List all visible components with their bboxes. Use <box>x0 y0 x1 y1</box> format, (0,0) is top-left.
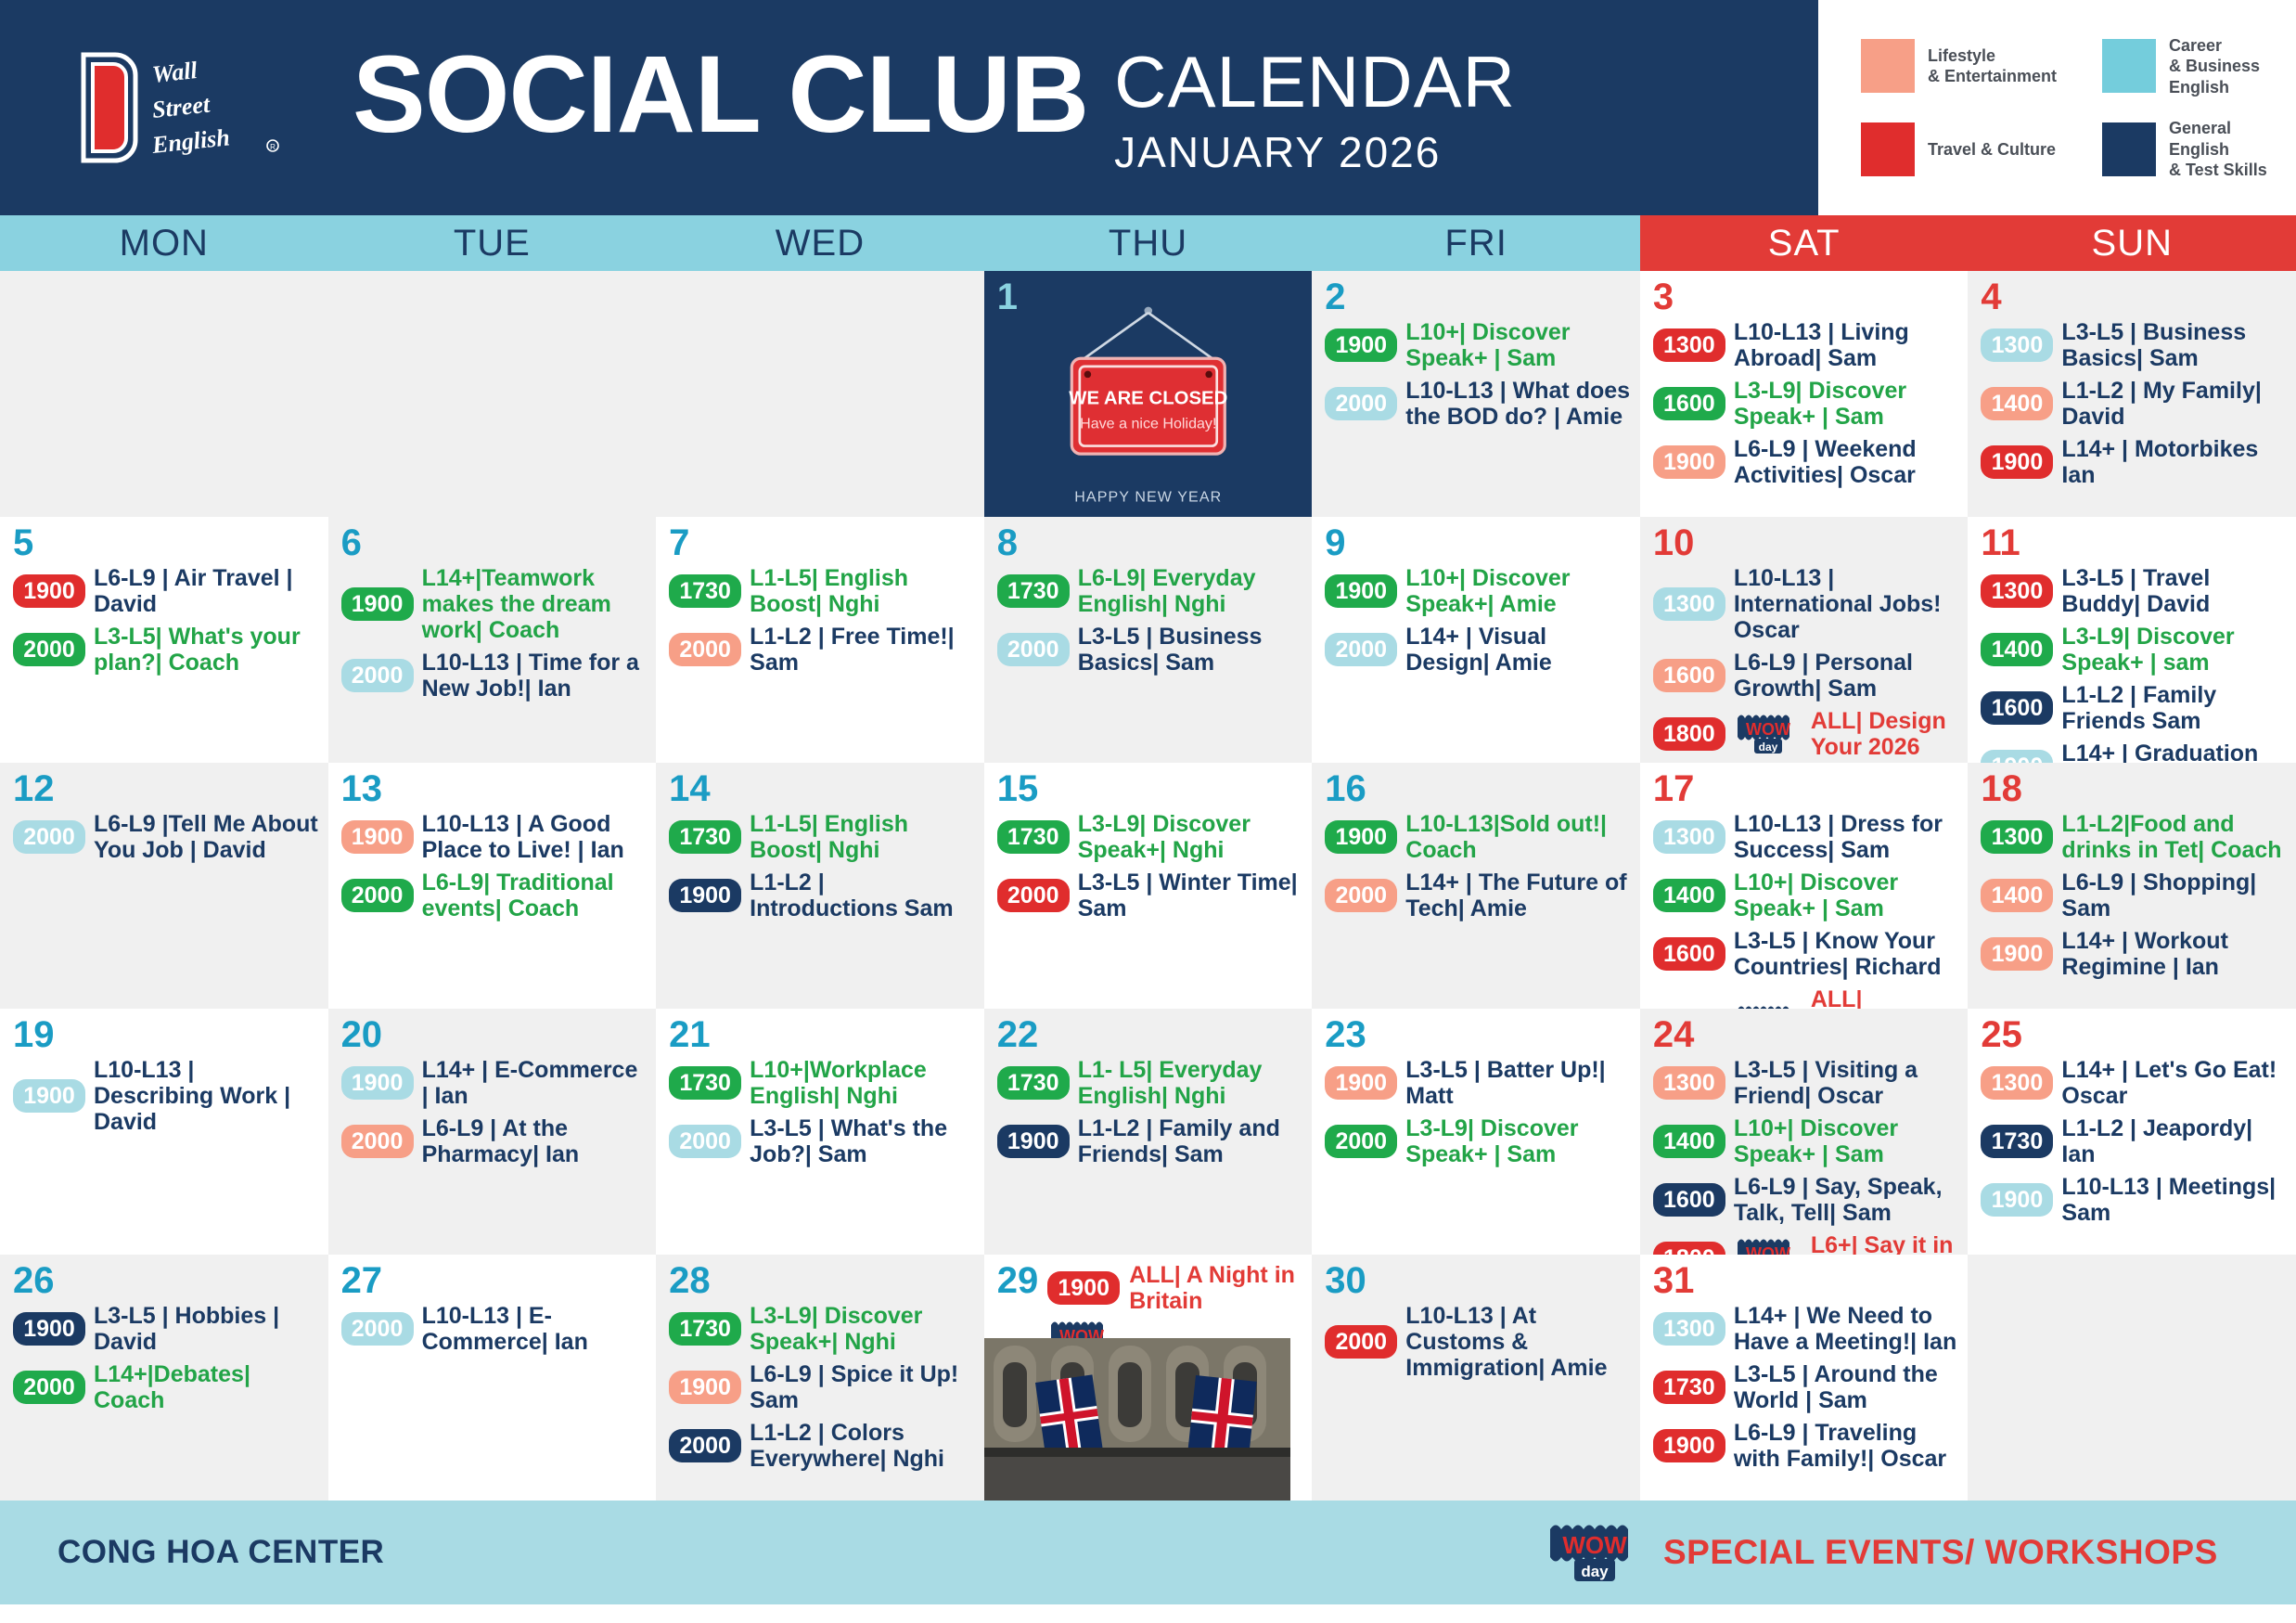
event-item[interactable]: 1300L10-L13 | International Jobs! Oscar <box>1653 565 1959 643</box>
day-number: 29 <box>997 1262 1039 1299</box>
calendar-grid: WE ARE CLOSED Have a nice Holiday! HAPPY… <box>0 271 2296 1501</box>
event-title: L6-L9| Everyday English| Nghi <box>1078 565 1303 617</box>
event-time-badge: 1900 <box>1653 1429 1725 1462</box>
event-item[interactable]: 2000L6-L9| Traditional events| Coach <box>341 869 648 921</box>
event-item[interactable]: 2000L3-L5 | What's the Job?| Sam <box>669 1115 975 1167</box>
event-time-badge: 2000 <box>997 879 1070 912</box>
day-cell-16[interactable]: 161900L10-L13|Sold out!| Coach2000L14+ |… <box>1312 763 1640 1009</box>
day-cell-empty <box>0 271 328 517</box>
day-cell-26[interactable]: 261900L3-L5 | Hobbies | David2000L14+|De… <box>0 1255 328 1501</box>
event-title: L6+| Say it in Slang <box>1811 1232 1959 1255</box>
day-cell-20[interactable]: 201900L14+ | E-Commerce | Ian2000L6-L9 |… <box>328 1009 657 1255</box>
event-time-badge: 1300 <box>1981 820 2053 854</box>
day-cell-empty <box>328 271 657 517</box>
event-title: L3-L9| Discover Speak+| Nghi <box>1078 811 1303 863</box>
svg-text:Wall: Wall <box>151 57 199 88</box>
day-number: 18 <box>1981 770 2287 807</box>
event-time-badge: 1800 <box>1653 717 1725 751</box>
day-cell-10[interactable]: 101300L10-L13 | International Jobs! Osca… <box>1640 517 1969 763</box>
event-list: 1900L6-L9 | Air Travel | David2000L3-L5|… <box>13 565 319 676</box>
event-item[interactable]: 2000L10-L13 | E-Commerce| Ian <box>341 1303 648 1355</box>
svg-text:WE ARE CLOSED: WE ARE CLOSED <box>1069 389 1227 409</box>
event-list: 1900L14+ | E-Commerce | Ian2000L6-L9 | A… <box>341 1057 648 1167</box>
day-number: 7 <box>669 524 975 561</box>
event-item[interactable]: 1900L1-L2 | Family and Friends| Sam <box>997 1115 1303 1167</box>
day-cell-17[interactable]: 171300L10-L13 | Dress for Success| Sam14… <box>1640 763 1969 1009</box>
day-number: 28 <box>669 1262 975 1299</box>
event-title: L14+ | The Future of Tech| Amie <box>1405 869 1631 921</box>
event-item[interactable]: 2000L1-L2 | Colors Everywhere| Nghi <box>669 1420 975 1472</box>
legend-item-career: Career & Business English <box>2102 35 2296 98</box>
event-title: L3-L5 | Business Basics| Sam <box>2061 319 2287 371</box>
day-cell-28[interactable]: 281730L3-L9| Discover Speak+| Nghi1900L6… <box>656 1255 984 1501</box>
event-item[interactable]: 2000L6-L9 |Tell Me About You Job | David <box>13 811 319 863</box>
day-number: 2 <box>1325 278 1631 316</box>
svg-text:Street: Street <box>151 91 212 123</box>
month-label: JANUARY 2026 <box>1114 129 1516 176</box>
event-time-badge: 1600 <box>1981 691 2053 725</box>
event-item[interactable]: 1900L10-L13 | A Good Place to Live! | Ia… <box>341 811 648 863</box>
legend-label-career: Career & Business English <box>2169 35 2296 98</box>
event-time-badge: 1730 <box>669 820 741 854</box>
event-title: L1-L2 | Family and Friends| Sam <box>1078 1115 1303 1167</box>
day-cell-25[interactable]: 251300L14+ | Let's Go Eat! Oscar1730L1-L… <box>1968 1009 2296 1255</box>
event-item[interactable]: 1400L6-L9 | Shopping| Sam <box>1981 869 2287 921</box>
legend-swatch-lifestyle <box>1861 39 1915 93</box>
day-cell-1[interactable]: WE ARE CLOSED Have a nice Holiday! HAPPY… <box>984 271 1313 517</box>
event-item[interactable]: 1400L10+| Discover Speak+ | Sam <box>1653 869 1959 921</box>
event-title: L14+ | Let's Go Eat! Oscar <box>2061 1057 2287 1109</box>
event-list: 1730L1- L5| Everyday English| Nghi1900L1… <box>997 1057 1303 1167</box>
event-item[interactable]: 1900L6-L9 | Traveling with Family!| Osca… <box>1653 1420 1959 1472</box>
event-list: 1900L10-L13 | Describing Work | David <box>13 1057 319 1135</box>
day-number: 24 <box>1653 1016 1959 1053</box>
day-number: 11 <box>1981 524 2287 561</box>
day-cell-14[interactable]: 141730L1-L5| English Boost| Nghi1900L1-L… <box>656 763 984 1009</box>
event-item[interactable]: 2000L3-L5| What's your plan?| Coach <box>13 624 319 676</box>
event-list: 1300L10-L13 | International Jobs! Oscar1… <box>1653 565 1959 760</box>
svg-text:WOW: WOW <box>1746 1244 1790 1255</box>
page-footer: CONG HOA CENTER WOW day SPECIAL EVENTS/ … <box>0 1501 2296 1604</box>
event-time-badge: 2000 <box>669 633 741 666</box>
day-number: 16 <box>1325 770 1631 807</box>
legend-item-general-english: General English & Test Skills <box>2102 118 2296 181</box>
event-title: L6-L9 | Shopping| Sam <box>2061 869 2287 921</box>
event-list: 1900L10+| Discover Speak+| Amie2000L14+ … <box>1325 565 1631 676</box>
svg-text:HAPPY NEW YEAR: HAPPY NEW YEAR <box>1074 489 1222 506</box>
event-item[interactable]: 1600L3-L5 | Know Your Countries| Richard <box>1653 928 1959 980</box>
event-item[interactable]: 1730L10+|Workplace English| Nghi <box>669 1057 975 1109</box>
event-title: L14+ | Visual Design| Amie <box>1405 624 1631 676</box>
event-item[interactable]: 1730L3-L5 | Around the World | Sam <box>1653 1361 1959 1413</box>
day-cell-9[interactable]: 91900L10+| Discover Speak+| Amie2000L14+… <box>1312 517 1640 763</box>
event-item[interactable]: 1800 WOW day ALL| Design Your 2026 <box>1653 708 1959 760</box>
day-number: 5 <box>13 524 319 561</box>
event-time-badge: 1900 <box>13 574 85 608</box>
event-item[interactable]: 1730L1-L5| English Boost| Nghi <box>669 811 975 863</box>
event-time-badge: 1600 <box>1653 937 1725 971</box>
weekday-header-wed: WED <box>656 215 984 271</box>
event-time-badge: 1730 <box>669 1312 741 1346</box>
event-title: L1-L2 | My Family| David <box>2061 378 2287 430</box>
day-number: 27 <box>341 1262 648 1299</box>
event-item[interactable]: 1300L3-L5 | Visiting a Friend| Oscar <box>1653 1057 1959 1109</box>
weekday-header-thu: THU <box>984 215 1313 271</box>
event-item[interactable]: 2000L14+ | Visual Design| Amie <box>1325 624 1631 676</box>
event-item[interactable]: 1900L10+| Discover Speak+ | Sam <box>1325 319 1631 371</box>
event-time-badge: 1900 <box>997 1125 1070 1158</box>
event-time-badge: 1300 <box>1981 328 2053 362</box>
event-title: L3-L9| Discover Speak+ | Sam <box>1734 378 1959 430</box>
event-list: 1900L10-L13|Sold out!| Coach2000L14+ | T… <box>1325 811 1631 921</box>
event-title: L10-L13 | A Good Place to Live! | Ian <box>422 811 648 863</box>
event-title: L14+ | Workout Regimine | Ian <box>2061 928 2287 980</box>
event-item[interactable]: 1800 WOW day ALL| Everyday AI Workshop <box>1653 986 1959 1009</box>
event-title: L14+ | Graduation Speech| Sam <box>2061 741 2287 763</box>
day-cell-6[interactable]: 61900L14+|Teamwork makes the dream work|… <box>328 517 657 763</box>
weekday-header-mon: MON <box>0 215 328 271</box>
event-title: L3-L5 | Hobbies | David <box>94 1303 319 1355</box>
event-title: L6-L9| Traditional events| Coach <box>422 869 648 921</box>
weekday-header-sun: SUN <box>1968 215 2296 271</box>
event-time-badge: 1600 <box>1653 387 1725 420</box>
day-number: 26 <box>13 1262 319 1299</box>
weekday-header-sat: SAT <box>1640 215 1969 271</box>
day-number: 20 <box>341 1016 648 1053</box>
event-title: L3-L9| Discover Speak+| Nghi <box>750 1303 975 1355</box>
event-title: L3-L5 | What's the Job?| Sam <box>750 1115 975 1167</box>
event-list: 1300L10-L13 | Dress for Success| Sam1400… <box>1653 811 1959 1009</box>
event-list: 1900L10+| Discover Speak+ | Sam2000L10-L… <box>1325 319 1631 430</box>
event-time-badge: 1400 <box>1653 879 1725 912</box>
event-time-badge: 1600 <box>1653 1183 1725 1217</box>
event-title: L1-L2 | Introductions Sam <box>750 869 975 921</box>
event-item[interactable]: 2000L3-L5 | Business Basics| Sam <box>997 624 1303 676</box>
day-cell-4[interactable]: 41300L3-L5 | Business Basics| Sam1400L1-… <box>1968 271 2296 517</box>
day-cell-3[interactable]: 31300L10-L13 | Living Abroad| Sam1600L3-… <box>1640 271 1969 517</box>
legend-swatch-travel <box>1861 122 1915 176</box>
event-item[interactable]: 1900L14+ | Graduation Speech| Sam <box>1981 741 2287 763</box>
event-time-badge: 1900 <box>1047 1271 1120 1305</box>
event-title: L10-L13 | What does the BOD do? | Amie <box>1405 378 1631 430</box>
event-list: 1300L3-L5 | Business Basics| Sam1400L1-L… <box>1981 319 2287 488</box>
day-number: 30 <box>1325 1262 1631 1299</box>
event-title: L1-L2|Food and drinks in Tet| Coach <box>2061 811 2287 863</box>
event-time-badge: 2000 <box>1325 1325 1397 1359</box>
event-item[interactable]: 1900L6-L9 | Air Travel | David <box>13 565 319 617</box>
day-number: 17 <box>1653 770 1959 807</box>
legend-item-travel: Travel & Culture <box>1861 122 2093 176</box>
day-cell-8[interactable]: 81730L6-L9| Everyday English| Nghi2000L3… <box>984 517 1313 763</box>
day-cell-22[interactable]: 221730L1- L5| Everyday English| Nghi1900… <box>984 1009 1313 1255</box>
event-time-badge: 1900 <box>1653 445 1725 479</box>
day-cell-27[interactable]: 272000L10-L13 | E-Commerce| Ian <box>328 1255 657 1501</box>
day-cell-15[interactable]: 151730L3-L9| Discover Speak+| Nghi2000L3… <box>984 763 1313 1009</box>
day-number: 13 <box>341 770 648 807</box>
event-item[interactable]: 1900L6-L9 | Weekend Activities| Oscar <box>1653 436 1959 488</box>
event-title: L10-L13 | Dress for Success| Sam <box>1734 811 1959 863</box>
page-header: Wall Street English R SOCIAL CLUB CALEND… <box>0 0 2296 215</box>
day-cell-19[interactable]: 191900L10-L13 | Describing Work | David <box>0 1009 328 1255</box>
day-number: 12 <box>13 770 319 807</box>
event-time-badge: 1900 <box>669 1371 741 1404</box>
event-item[interactable]: 1400L3-L9| Discover Speak+ | sam <box>1981 624 2287 676</box>
event-time-badge: 2000 <box>669 1429 741 1462</box>
event-time-badge: 1600 <box>1653 659 1725 692</box>
event-item[interactable]: 1730L1-L5| English Boost| Nghi <box>669 565 975 617</box>
weekday-header-tue: TUE <box>328 215 657 271</box>
event-title: L1-L2 | Family Friends Sam <box>2061 682 2287 734</box>
event-time-badge: 1900 <box>13 1079 85 1113</box>
event-title: L3-L5 | Batter Up!| Matt <box>1405 1057 1631 1109</box>
day-cell-11[interactable]: 111300L3-L5 | Travel Buddy| David1400L3-… <box>1968 517 2296 763</box>
event-time-badge: 1300 <box>1981 1066 2053 1100</box>
event-title: L6-L9 | Spice it Up! Sam <box>750 1361 975 1413</box>
event-title: L3-L5 | Know Your Countries| Richard <box>1734 928 1959 980</box>
day-cell-29[interactable]: 291900ALL| A Night in Britain WOW day <box>984 1255 1313 1501</box>
event-list: 1730L6-L9| Everyday English| Nghi2000L3-… <box>997 565 1303 676</box>
day-cell-30[interactable]: 302000L10-L13 | At Customs & Immigration… <box>1312 1255 1640 1501</box>
event-title: L1-L2 | Free Time!| Sam <box>750 624 975 676</box>
event-time-badge: 1400 <box>1981 879 2053 912</box>
event-item[interactable]: 1300L1-L2|Food and drinks in Tet| Coach <box>1981 811 2287 863</box>
event-time-badge: 1900 <box>1981 937 2053 971</box>
day-number: 15 <box>997 770 1303 807</box>
event-list: 1900L3-L5 | Batter Up!| Matt2000L3-L9| D… <box>1325 1057 1631 1167</box>
event-item[interactable]: 2000L6-L9 | At the Pharmacy| Ian <box>341 1115 648 1167</box>
day-number: 14 <box>669 770 975 807</box>
event-time-badge: 1730 <box>997 574 1070 608</box>
event-time-badge: 1730 <box>669 574 741 608</box>
event-title: L3-L5 | Winter Time| Sam <box>1078 869 1303 921</box>
event-title: L10+| Discover Speak+ | Sam <box>1405 319 1631 371</box>
day-number: 9 <box>1325 524 1631 561</box>
event-item[interactable]: 1730L1- L5| Everyday English| Nghi <box>997 1057 1303 1109</box>
legend-item-lifestyle: Lifestyle & Entertainment <box>1861 39 2093 93</box>
legend: Lifestyle & Entertainment Career & Busin… <box>1818 0 2296 215</box>
day-cell-5[interactable]: 51900L6-L9 | Air Travel | David2000L3-L5… <box>0 517 328 763</box>
event-title: ALL| Design Your 2026 <box>1811 708 1959 760</box>
event-time-badge: 1900 <box>13 1312 85 1346</box>
event-time-badge: 1730 <box>1981 1125 2053 1158</box>
event-item[interactable]: 1900L14+ | Workout Regimine | Ian <box>1981 928 2287 980</box>
event-time-badge: 1900 <box>341 820 414 854</box>
event-time-badge: 1400 <box>1981 633 2053 666</box>
event-time-badge: 2000 <box>341 659 414 692</box>
event-list: 1730L1-L5| English Boost| Nghi2000L1-L2 … <box>669 565 975 676</box>
event-title: L6-L9 | At the Pharmacy| Ian <box>422 1115 648 1167</box>
day-number: 3 <box>1653 278 1959 316</box>
event-time-badge: 1300 <box>1653 820 1725 854</box>
event-list: 1900L14+|Teamwork makes the dream work| … <box>341 565 648 702</box>
event-item[interactable]: 1800 WOW day L6+| Say it in Slang <box>1653 1232 1959 1255</box>
wow-day-icon: WOW day <box>1734 1002 1802 1009</box>
event-title: L1-L5| English Boost| Nghi <box>750 565 975 617</box>
event-time-badge: 2000 <box>1325 1125 1397 1158</box>
event-list: 2000L10-L13 | At Customs & Immigration| … <box>1325 1303 1631 1381</box>
event-item[interactable]: 2000L10-L13 | At Customs & Immigration| … <box>1325 1303 1631 1381</box>
day-cell-12[interactable]: 122000L6-L9 |Tell Me About You Job | Dav… <box>0 763 328 1009</box>
legend-label-general-english: General English & Test Skills <box>2169 118 2296 181</box>
event-item[interactable]: 1900L10-L13|Sold out!| Coach <box>1325 811 1631 863</box>
event-time-badge: 1900 <box>1325 1066 1397 1100</box>
event-title: L10-L13 | Living Abroad| Sam <box>1734 319 1959 371</box>
event-item[interactable]: 1300L10-L13 | Living Abroad| Sam <box>1653 319 1959 371</box>
event-item[interactable]: 1900L10-L13 | Meetings| Sam <box>1981 1174 2287 1226</box>
calendar-page: Wall Street English R SOCIAL CLUB CALEND… <box>0 0 2296 1623</box>
day-number: 4 <box>1981 278 2287 316</box>
wall-street-english-logo: Wall Street English R <box>65 38 288 177</box>
event-item[interactable]: 1900L14+|Teamwork makes the dream work| … <box>341 565 648 643</box>
event-title: L10-L13 | At Customs & Immigration| Amie <box>1405 1303 1631 1381</box>
event-title: L6-L9 |Tell Me About You Job | David <box>94 811 319 863</box>
event-item[interactable]: 1730L1-L2 | Jeapordy| Ian <box>1981 1115 2287 1167</box>
event-title: L14+|Debates| Coach <box>94 1361 319 1413</box>
event-title: L14+ | Motorbikes Ian <box>2061 436 2287 488</box>
event-item[interactable]: 2000L14+|Debates| Coach <box>13 1361 319 1413</box>
header-title-area: Wall Street English R SOCIAL CLUB CALEND… <box>0 0 1818 215</box>
special-events-label: SPECIAL EVENTS/ WORKSHOPS <box>1663 1533 2218 1572</box>
event-item[interactable]: 2000L10-L13 | Time for a New Job!| Ian <box>341 650 648 702</box>
event-title: L3-L5 | Business Basics| Sam <box>1078 624 1303 676</box>
event-item[interactable]: 1730L6-L9| Everyday English| Nghi <box>997 565 1303 617</box>
event-item[interactable]: 1600L3-L9| Discover Speak+ | Sam <box>1653 378 1959 430</box>
event-time-badge: 2000 <box>341 879 414 912</box>
event-time-badge: 1300 <box>1981 574 2053 608</box>
event-list: 1730L1-L5| English Boost| Nghi1900L1-L2 … <box>669 811 975 921</box>
event-title: L10+| Discover Speak+ | Sam <box>1734 1115 1959 1167</box>
day-cell-18[interactable]: 181300L1-L2|Food and drinks in Tet| Coac… <box>1968 763 2296 1009</box>
event-time-badge: 1300 <box>1653 1066 1725 1100</box>
event-item[interactable]: 1600L6-L9 | Say, Speak, Talk, Tell| Sam <box>1653 1174 1959 1226</box>
event-item[interactable]: 2000L10-L13 | What does the BOD do? | Am… <box>1325 378 1631 430</box>
event-item[interactable]: 1900L10-L13 | Describing Work | David <box>13 1057 319 1135</box>
day-number: 21 <box>669 1016 975 1053</box>
legend-swatch-general-english <box>2102 122 2156 176</box>
event-title: L10-L13 | Meetings| Sam <box>2061 1174 2287 1226</box>
event-time-badge: 2000 <box>13 820 85 854</box>
event-title: L1-L2 | Jeapordy| Ian <box>2061 1115 2287 1167</box>
event-item[interactable]: 1900L14+ | E-Commerce | Ian <box>341 1057 648 1109</box>
event-list: 1300L3-L5 | Visiting a Friend| Oscar1400… <box>1653 1057 1959 1255</box>
event-time-badge: 1900 <box>1981 750 2053 763</box>
day-number: 10 <box>1653 524 1959 561</box>
event-item[interactable]: 1300L10-L13 | Dress for Success| Sam <box>1653 811 1959 863</box>
event-list: 1300L1-L2|Food and drinks in Tet| Coach1… <box>1981 811 2287 980</box>
day-number: 25 <box>1981 1016 2287 1053</box>
event-item[interactable]: 2000L1-L2 | Free Time!| Sam <box>669 624 975 676</box>
event-item[interactable]: 2000L3-L5 | Winter Time| Sam <box>997 869 1303 921</box>
event-time-badge: 1400 <box>1981 387 2053 420</box>
event-title: L14+ | E-Commerce | Ian <box>422 1057 648 1109</box>
event-time-badge: 2000 <box>997 633 1070 666</box>
event-title: L6-L9 | Air Travel | David <box>94 565 319 617</box>
event-item[interactable]: 1400L10+| Discover Speak+ | Sam <box>1653 1115 1959 1167</box>
event-time-badge: 2000 <box>13 1371 85 1404</box>
weekday-header-fri: FRI <box>1312 215 1640 271</box>
event-item[interactable]: 1900L6-L9 | Spice it Up! Sam <box>669 1361 975 1413</box>
event-item[interactable]: 1300L14+ | Let's Go Eat! Oscar <box>1981 1057 2287 1109</box>
page-title: SOCIAL CLUB <box>353 40 1088 149</box>
event-title: L3-L9| Discover Speak+ | sam <box>2061 624 2287 676</box>
event-title: L10+|Workplace English| Nghi <box>750 1057 975 1109</box>
event-item[interactable]: 1900L3-L5 | Batter Up!| Matt <box>1325 1057 1631 1109</box>
legend-label-lifestyle: Lifestyle & Entertainment <box>1928 45 2057 87</box>
event-item[interactable]: 1900L10+| Discover Speak+| Amie <box>1325 565 1631 617</box>
event-item[interactable]: 1900L1-L2 | Introductions Sam <box>669 869 975 921</box>
day-cell-2[interactable]: 21900L10+| Discover Speak+ | Sam2000L10-… <box>1312 271 1640 517</box>
event-item[interactable]: 1900L3-L5 | Hobbies | David <box>13 1303 319 1355</box>
event-time-badge: 1900 <box>1325 820 1397 854</box>
event-item[interactable]: 1730L3-L9| Discover Speak+| Nghi <box>669 1303 975 1355</box>
day-number: 8 <box>997 524 1303 561</box>
event-title: ALL| Everyday AI Workshop <box>1811 986 1959 1009</box>
day-cell-21[interactable]: 211730L10+|Workplace English| Nghi2000L3… <box>656 1009 984 1255</box>
event-item[interactable]: 1300L14+ | We Need to Have a Meeting!| I… <box>1653 1303 1959 1355</box>
event-item[interactable]: 1900L14+ | Motorbikes Ian <box>1981 436 2287 488</box>
event-list: 1300L3-L5 | Travel Buddy| David1400L3-L9… <box>1981 565 2287 763</box>
event-title: L1- L5| Everyday English| Nghi <box>1078 1057 1303 1109</box>
event-title: L6-L9 | Weekend Activities| Oscar <box>1734 436 1959 488</box>
event-list: 2000L10-L13 | E-Commerce| Ian <box>341 1303 648 1355</box>
event-list: 1300L14+ | We Need to Have a Meeting!| I… <box>1653 1303 1959 1472</box>
event-time-badge: 1900 <box>1325 328 1397 362</box>
event-title: ALL| A Night in Britain <box>1129 1262 1302 1314</box>
event-time-badge: 1730 <box>997 1066 1070 1100</box>
event-time-badge: 1900 <box>1981 445 2053 479</box>
event-time-badge: 2000 <box>341 1312 414 1346</box>
svg-text:English: English <box>150 123 231 159</box>
title-block: SOCIAL CLUB CALENDAR JANUARY 2026 <box>353 40 1516 176</box>
event-item[interactable]: 2000L14+ | The Future of Tech| Amie <box>1325 869 1631 921</box>
day-number: 23 <box>1325 1016 1631 1053</box>
event-title: L10-L13 | Describing Work | David <box>94 1057 319 1135</box>
event-time-badge: 1900 <box>341 1066 414 1100</box>
day-cell-13[interactable]: 131900L10-L13 | A Good Place to Live! | … <box>328 763 657 1009</box>
event-time-badge: 1730 <box>669 1066 741 1100</box>
event-time-badge: 1730 <box>997 820 1070 854</box>
event-time-badge: 2000 <box>13 633 85 666</box>
event-title: L3-L5| What's your plan?| Coach <box>94 624 319 676</box>
event-list: 2000L6-L9 |Tell Me About You Job | David <box>13 811 319 863</box>
calendar-label: CALENDAR <box>1114 45 1516 118</box>
event-item[interactable]: 1300L3-L5 | Travel Buddy| David <box>1981 565 2287 617</box>
day-cell-7[interactable]: 71730L1-L5| English Boost| Nghi2000L1-L2… <box>656 517 984 763</box>
event-title: L10-L13 | International Jobs! Oscar <box>1734 565 1959 643</box>
event-title: L3-L5 | Travel Buddy| David <box>2061 565 2287 617</box>
event-item[interactable]: 2000L3-L9| Discover Speak+ | Sam <box>1325 1115 1631 1167</box>
day-cell-24[interactable]: 241300L3-L5 | Visiting a Friend| Oscar14… <box>1640 1009 1969 1255</box>
wow-day-icon: WOW day <box>1734 1235 1802 1255</box>
event-time-badge: 1800 <box>1653 1242 1725 1255</box>
svg-text:WOW: WOW <box>1746 720 1790 739</box>
event-title: L14+|Teamwork makes the dream work| Coac… <box>422 565 648 643</box>
event-item[interactable]: 1730L3-L9| Discover Speak+| Nghi <box>997 811 1303 863</box>
svg-text:day: day <box>1581 1563 1609 1580</box>
weekday-header-row: MONTUEWEDTHUFRISATSUN <box>0 215 2296 271</box>
event-item[interactable]: 1300L3-L5 | Business Basics| Sam <box>1981 319 2287 371</box>
event-item[interactable]: 1400L1-L2 | My Family| David <box>1981 378 2287 430</box>
day-cell-23[interactable]: 231900L3-L5 | Batter Up!| Matt2000L3-L9|… <box>1312 1009 1640 1255</box>
legend-swatch-career <box>2102 39 2156 93</box>
day-cell-31[interactable]: 311300L14+ | We Need to Have a Meeting!|… <box>1640 1255 1969 1501</box>
day-number: 6 <box>341 524 648 561</box>
center-name: CONG HOA CENTER <box>58 1534 384 1571</box>
event-list: 1300L10-L13 | Living Abroad| Sam1600L3-L… <box>1653 319 1959 488</box>
event-list: 1900L10-L13 | A Good Place to Live! | Ia… <box>341 811 648 921</box>
event-item[interactable]: 1600L1-L2 | Family Friends Sam <box>1981 682 2287 734</box>
event-item[interactable]: 1600L6-L9 | Personal Growth| Sam <box>1653 650 1959 702</box>
